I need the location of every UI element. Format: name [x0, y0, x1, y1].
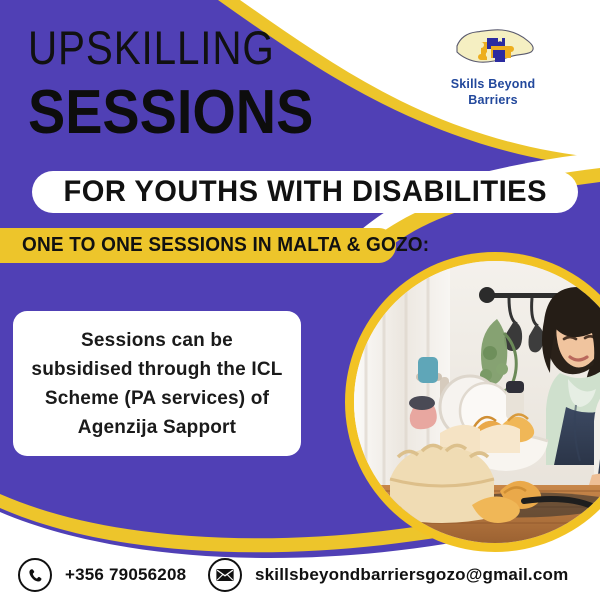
kitchen-photo-illustration [354, 261, 600, 543]
headline-block: UPSKILLING SESSIONS [28, 22, 408, 146]
page-title: SESSIONS [28, 80, 370, 146]
phone-number: +356 79056208 [65, 565, 186, 585]
subsidy-info-text: Sessions can be subsidised through the I… [29, 326, 285, 442]
logo-line-2: Barriers [418, 92, 568, 108]
email-address: skillsbeyondbarriersgozo@gmail.com [255, 565, 568, 585]
phone-icon [18, 558, 52, 592]
photo-circle [354, 261, 600, 543]
sessions-banner: ONE TO ONE SESSIONS IN MALTA & GOZO: [0, 228, 396, 263]
contact-phone[interactable]: +356 79056208 [18, 558, 186, 592]
subsidy-info-card: Sessions can be subsidised through the I… [13, 311, 301, 456]
subtitle-text: FOR YOUTHS WITH DISABILITIES [63, 175, 546, 209]
contact-email[interactable]: skillsbeyondbarriersgozo@gmail.com [208, 558, 568, 592]
logo-line-1: Skills Beyond [418, 76, 568, 92]
envelope-icon [208, 558, 242, 592]
page-eyebrow: UPSKILLING [28, 22, 355, 74]
malta-island-puzzle-icon [443, 24, 543, 70]
logo-text: Skills Beyond Barriers [418, 76, 568, 108]
poster-canvas: UPSKILLING SESSIONS Skills Beyond Barrie… [0, 0, 600, 600]
subtitle-pill: FOR YOUTHS WITH DISABILITIES [32, 171, 578, 213]
photo-circle-ring [345, 252, 600, 552]
sessions-banner-text: ONE TO ONE SESSIONS IN MALTA & GOZO: [22, 234, 429, 257]
brand-logo: Skills Beyond Barriers [418, 24, 568, 108]
